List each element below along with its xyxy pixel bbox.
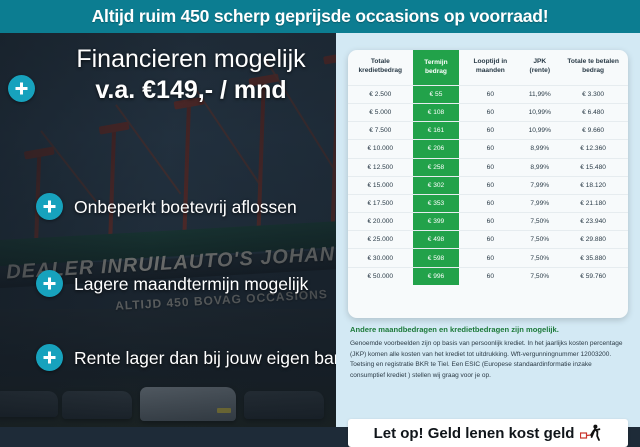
- headline-line-2: v.a. €149,- / mnd: [36, 74, 346, 106]
- cell-termijn: € 206: [413, 140, 460, 158]
- cell-looptijd: 60: [459, 231, 521, 249]
- cell-termijn: € 258: [413, 158, 460, 176]
- hero-copy: Financieren mogelijk v.a. €149,- / mnd O…: [0, 33, 352, 427]
- cell-termijn: € 302: [413, 176, 460, 194]
- cell-jkp: 8,99%: [521, 140, 558, 158]
- cell-totaal: € 15.480: [558, 158, 628, 176]
- table-row: € 12.500€ 258608,99%€ 15.480: [348, 158, 628, 176]
- cell-krediet: € 20.000: [348, 213, 413, 231]
- cell-looptijd: 60: [459, 194, 521, 212]
- cell-totaal: € 12.360: [558, 140, 628, 158]
- loan-warning-text: Let op! Geld lenen kost geld: [374, 425, 575, 442]
- table-body: € 2.500€ 556011,99%€ 3.300€ 5.000€ 10860…: [348, 85, 628, 285]
- finance-table: Totale kredietbedrag Termijn bedrag Loop…: [348, 50, 628, 285]
- column-header-looptijd: Looptijd in maanden: [459, 50, 521, 85]
- cell-totaal: € 9.660: [558, 122, 628, 140]
- cell-termijn: € 353: [413, 194, 460, 212]
- content-stage: DEALER INRUILAUTO'S JOHAN MEURE ALTIJD 4…: [0, 33, 640, 427]
- cell-krediet: € 30.000: [348, 249, 413, 267]
- cell-krediet: € 15.000: [348, 176, 413, 194]
- column-header-termijn: Termijn bedrag: [413, 50, 460, 85]
- cell-totaal: € 59.760: [558, 267, 628, 285]
- promo-banner: Altijd ruim 450 scherp geprijsde occasio…: [0, 0, 640, 33]
- headline-line-1: Financieren mogelijk: [36, 44, 346, 74]
- cell-looptijd: 60: [459, 249, 521, 267]
- cell-looptijd: 60: [459, 103, 521, 121]
- cell-krediet: € 7.500: [348, 122, 413, 140]
- plus-icon: [36, 270, 63, 297]
- plus-icon: [36, 344, 63, 371]
- cell-jkp: 7,99%: [521, 176, 558, 194]
- cell-totaal: € 6.480: [558, 103, 628, 121]
- cell-totaal: € 18.120: [558, 176, 628, 194]
- table-row: € 25.000€ 498607,50%€ 29.880: [348, 231, 628, 249]
- cell-jkp: 11,99%: [521, 85, 558, 103]
- cell-looptijd: 60: [459, 267, 521, 285]
- cell-jkp: 7,50%: [521, 267, 558, 285]
- column-header-jkp: JPK (rente): [521, 50, 558, 85]
- cell-jkp: 10,99%: [521, 122, 558, 140]
- cell-krediet: € 5.000: [348, 103, 413, 121]
- cell-looptijd: 60: [459, 213, 521, 231]
- plus-icon: [8, 75, 35, 102]
- disclaimer: Andere maandbedragen en kredietbedragen …: [350, 325, 628, 381]
- table-row: € 50.000€ 996607,50%€ 59.760: [348, 267, 628, 285]
- cell-totaal: € 3.300: [558, 85, 628, 103]
- cell-krediet: € 50.000: [348, 267, 413, 285]
- table-row: € 7.500€ 1616010,99%€ 9.660: [348, 122, 628, 140]
- cell-termijn: € 161: [413, 122, 460, 140]
- page-title: Financieren mogelijk v.a. €149,- / mnd: [36, 44, 346, 106]
- cell-jkp: 10,99%: [521, 103, 558, 121]
- cell-totaal: € 35.880: [558, 249, 628, 267]
- benefit-item-1: Onbeperkt boetevrij aflossen: [74, 197, 297, 218]
- loan-warning-bar: Let op! Geld lenen kost geld: [348, 419, 628, 447]
- table-row: € 20.000€ 399607,50%€ 23.940: [348, 213, 628, 231]
- column-header-krediet: Totale kredietbedrag: [348, 50, 413, 85]
- cell-termijn: € 598: [413, 249, 460, 267]
- column-header-totaal: Totale te betalen bedrag: [558, 50, 628, 85]
- benefit-item-2: Lagere maandtermijn mogelijk: [74, 274, 308, 295]
- cell-jkp: 7,50%: [521, 213, 558, 231]
- finance-info-panel: Totale kredietbedrag Termijn bedrag Loop…: [336, 33, 640, 427]
- promo-banner-text: Altijd ruim 450 scherp geprijsde occasio…: [92, 6, 549, 27]
- cell-totaal: € 29.880: [558, 231, 628, 249]
- table-row: € 30.000€ 598607,50%€ 35.880: [348, 249, 628, 267]
- benefit-item-3: Rente lager dan bij jouw eigen bank: [74, 348, 352, 369]
- cell-krediet: € 17.500: [348, 194, 413, 212]
- cell-krediet: € 12.500: [348, 158, 413, 176]
- plus-icon: [36, 193, 63, 220]
- disclaimer-body: Genoemde voorbeelden zijn op basis van p…: [350, 339, 628, 381]
- disclaimer-title: Andere maandbedragen en kredietbedragen …: [350, 325, 628, 334]
- table-header-row: Totale kredietbedrag Termijn bedrag Loop…: [348, 50, 628, 85]
- cell-termijn: € 498: [413, 231, 460, 249]
- table-row: € 17.500€ 353607,99%€ 21.180: [348, 194, 628, 212]
- cell-looptijd: 60: [459, 176, 521, 194]
- cell-jkp: 7,50%: [521, 231, 558, 249]
- table-row: € 10.000€ 206608,99%€ 12.360: [348, 140, 628, 158]
- cell-jkp: 7,50%: [521, 249, 558, 267]
- cell-termijn: € 399: [413, 213, 460, 231]
- table-row: € 2.500€ 556011,99%€ 3.300: [348, 85, 628, 103]
- cell-termijn: € 996: [413, 267, 460, 285]
- finance-table-card: Totale kredietbedrag Termijn bedrag Loop…: [348, 50, 628, 318]
- cell-krediet: € 10.000: [348, 140, 413, 158]
- cell-jkp: 7,99%: [521, 194, 558, 212]
- cell-totaal: € 21.180: [558, 194, 628, 212]
- cell-looptijd: 60: [459, 122, 521, 140]
- cell-looptijd: 60: [459, 85, 521, 103]
- table-row: € 5.000€ 1086010,99%€ 6.480: [348, 103, 628, 121]
- cell-jkp: 8,99%: [521, 158, 558, 176]
- cell-krediet: € 25.000: [348, 231, 413, 249]
- cell-totaal: € 23.940: [558, 213, 628, 231]
- table-row: € 15.000€ 302607,99%€ 18.120: [348, 176, 628, 194]
- cell-krediet: € 2.500: [348, 85, 413, 103]
- cell-looptijd: 60: [459, 158, 521, 176]
- cell-looptijd: 60: [459, 140, 521, 158]
- cell-termijn: € 55: [413, 85, 460, 103]
- cell-termijn: € 108: [413, 103, 460, 121]
